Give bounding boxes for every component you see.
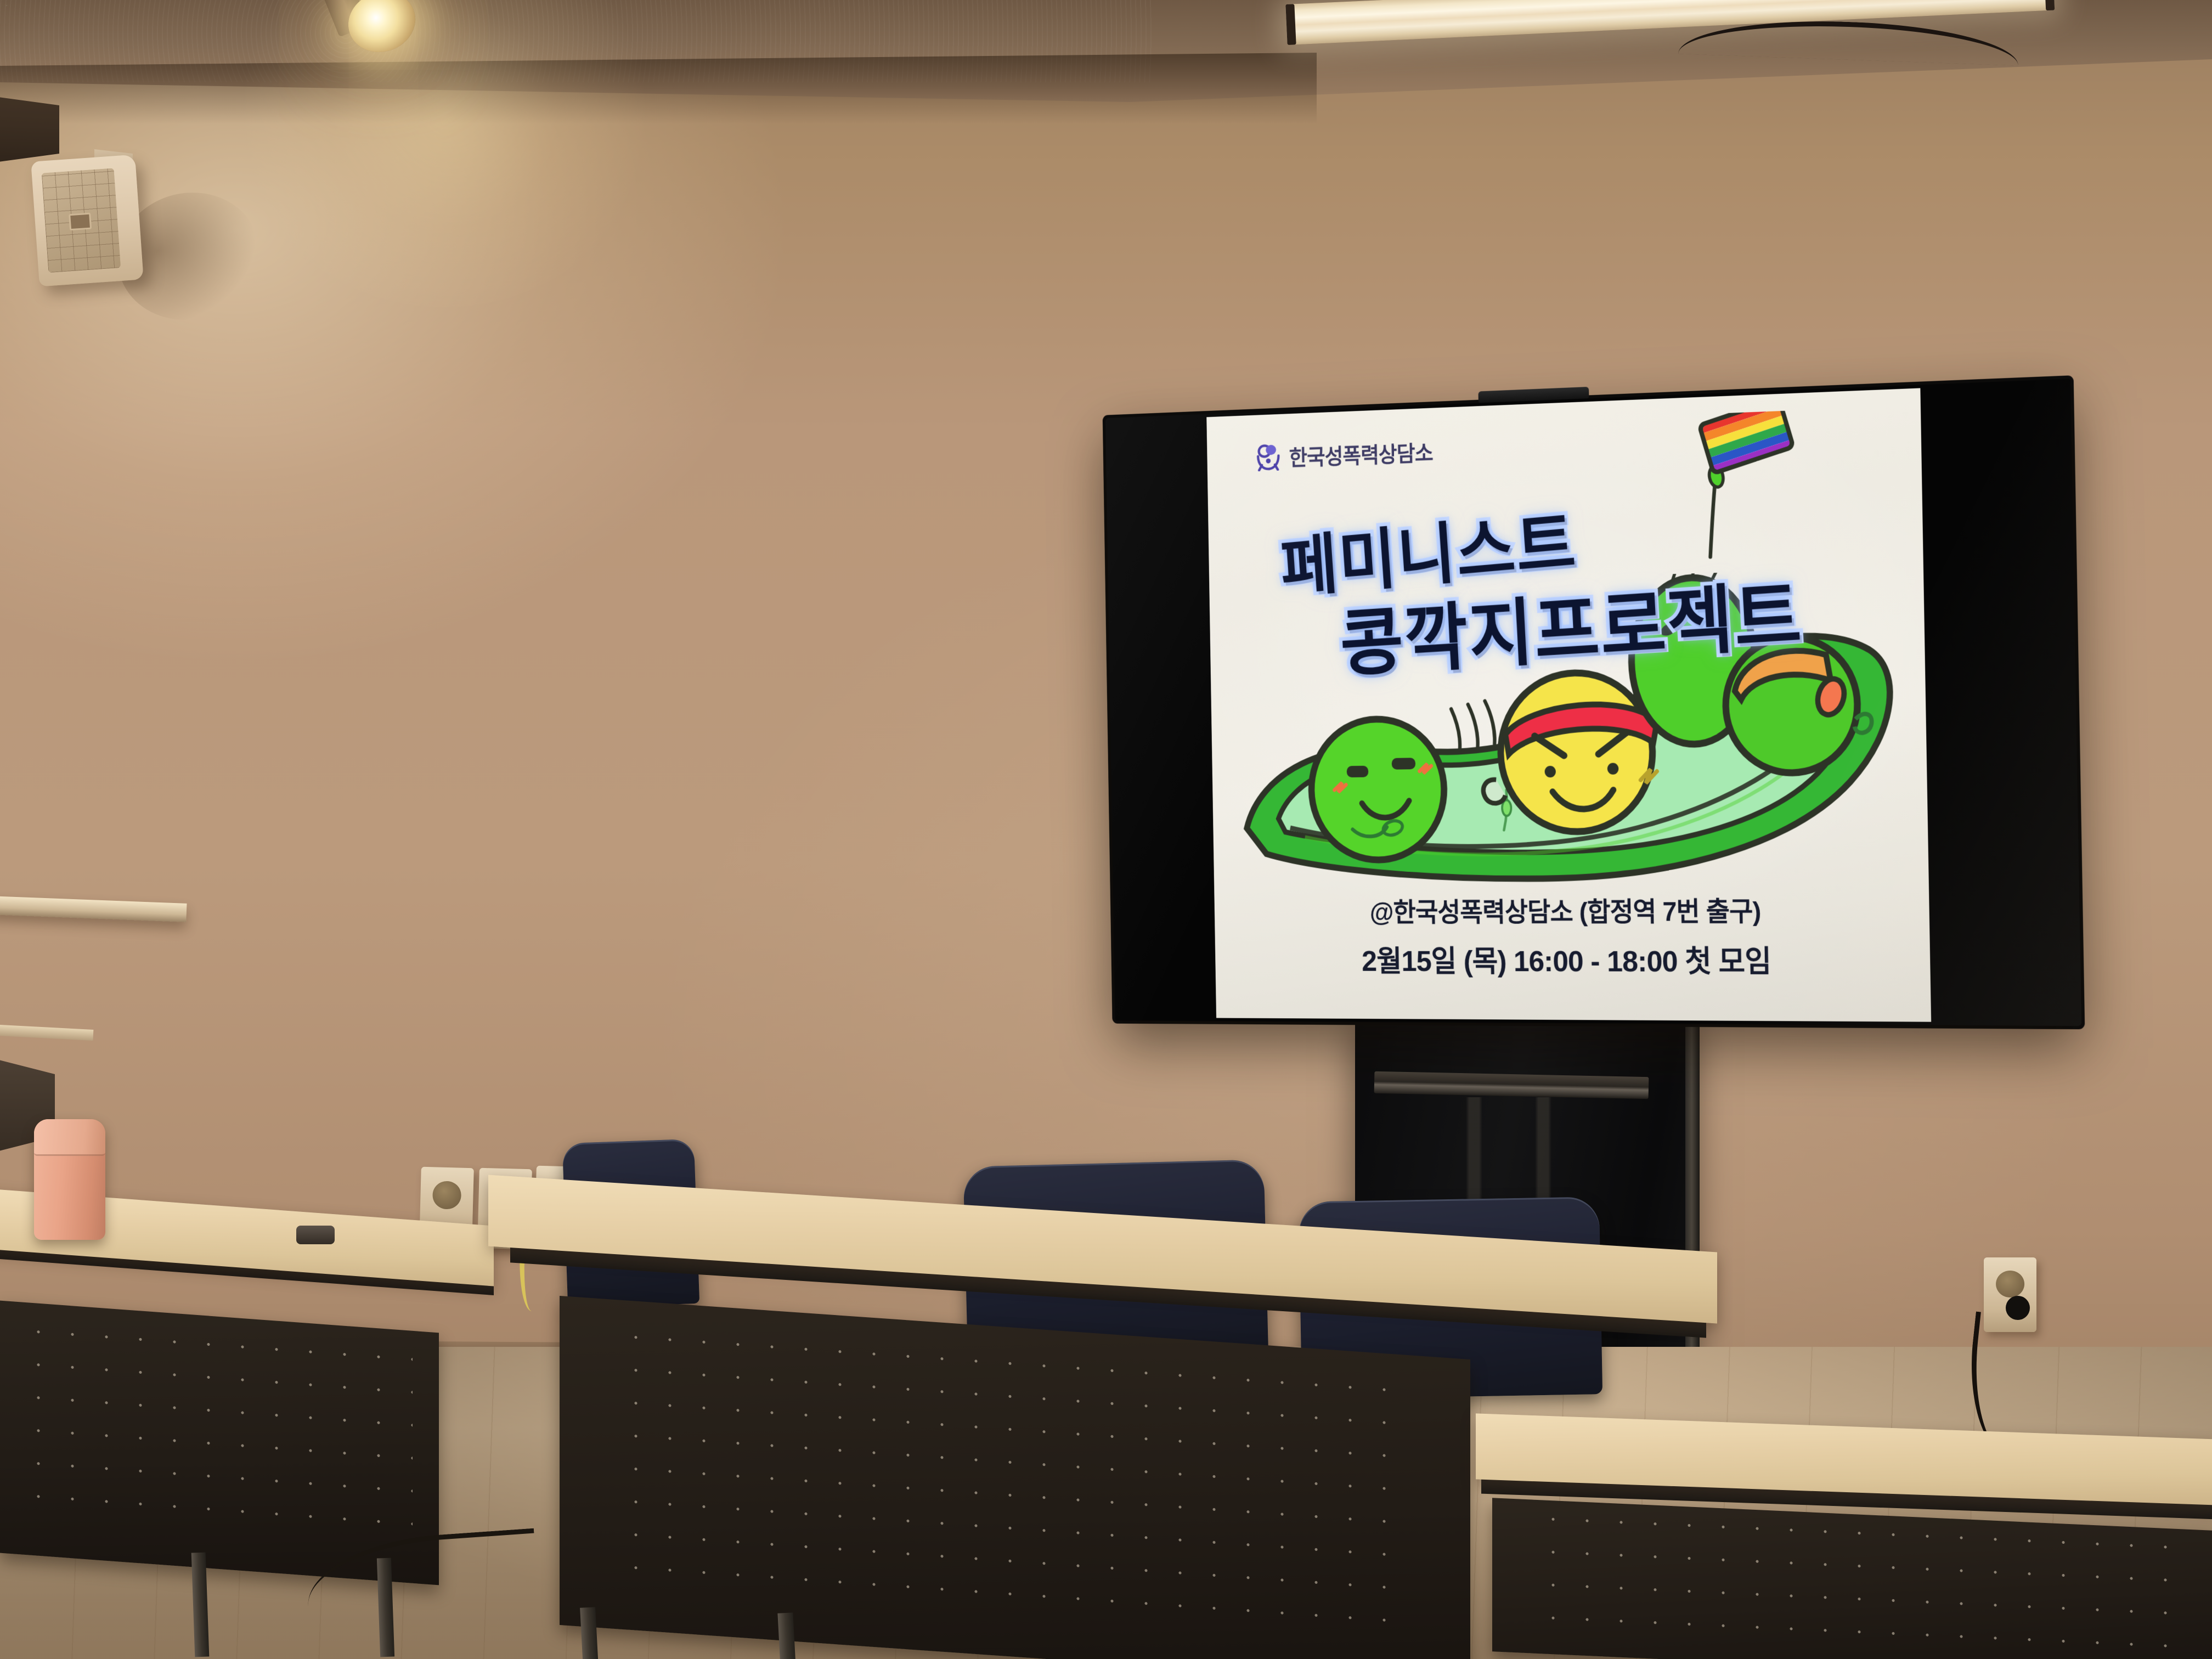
slide-info: @한국성폭력상담소 (합정역 7번 출구) 2월15일 (목) 16:00 - … xyxy=(1214,889,1931,981)
speaker-badge xyxy=(69,213,92,231)
wall-mounted-display[interactable]: 한국성폭력상담소 xyxy=(1105,379,2081,1026)
outlet-socket-icon xyxy=(432,1181,461,1210)
table-panel-center xyxy=(560,1296,1470,1659)
organization-logo-icon xyxy=(1254,443,1283,472)
room-scene: 한국성폭력상담소 xyxy=(0,0,2212,1659)
pea-pod-illustration xyxy=(1228,568,1905,895)
wall-shelf-upper xyxy=(0,896,187,922)
tumbler-lid xyxy=(34,1119,105,1156)
slide-venue-line: @한국성폭력상담소 (합정역 7번 출구) xyxy=(1214,889,1929,929)
pink-tumbler[interactable] xyxy=(34,1119,105,1240)
slide-datetime-line: 2월15일 (목) 16:00 - 18:00 첫 모임 xyxy=(1215,937,1931,981)
outlet-socket-icon xyxy=(1996,1271,2024,1297)
wall-speaker xyxy=(31,155,143,287)
display-panel: 한국성폭력상담소 xyxy=(1105,379,2081,1026)
table-dongle[interactable] xyxy=(296,1226,335,1244)
rainbow-pride-flag xyxy=(1655,410,1813,575)
presentation-slide: 한국성폭력상담소 xyxy=(1206,388,1931,1022)
table-leg-center-a xyxy=(580,1607,599,1659)
tube-end-cap-left xyxy=(1285,4,1296,45)
wall-shelf-lower xyxy=(0,1024,93,1041)
table-leg-center-b xyxy=(777,1612,795,1659)
tube-end-cap-right xyxy=(2044,0,2055,10)
organization-logo-text: 한국성폭력상담소 xyxy=(1289,435,1433,472)
ceiling-vent xyxy=(0,97,59,162)
table-panel-left xyxy=(0,1301,439,1585)
organization-logo: 한국성폭력상담소 xyxy=(1254,435,1434,473)
